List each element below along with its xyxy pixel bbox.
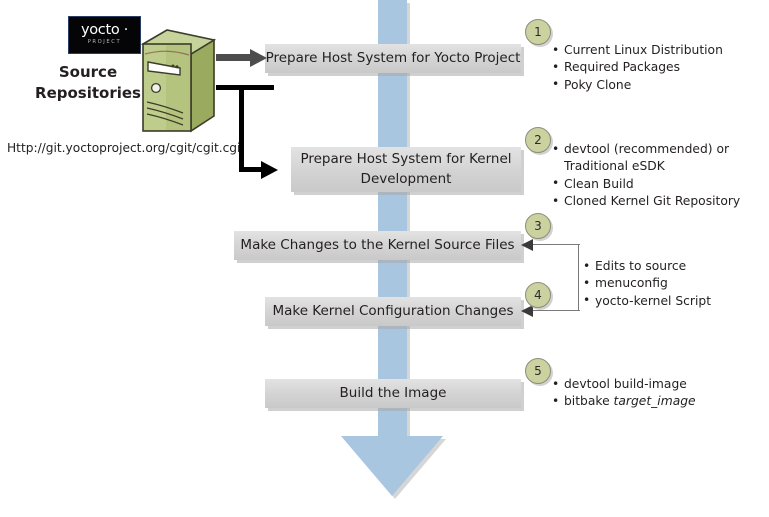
step-circle-3: 3 [525, 213, 551, 239]
step-circle-2-number: 2 [534, 133, 542, 147]
step-circle-1-number: 1 [534, 25, 542, 39]
bullet-item: Current Linux Distribution [552, 42, 723, 59]
feedback-loop-vertical-segment [578, 244, 579, 311]
connector-server-to-step1-arrowhead [250, 49, 267, 67]
bullet-item: bitbake target_image [552, 393, 696, 410]
yocto-logo-subtext: PROJECT [69, 39, 140, 45]
step-circle-2: 2 [525, 127, 551, 153]
bullet-item: Cloned Kernel Git Repository [552, 193, 740, 210]
bullet-item: Poky Clone [552, 77, 723, 94]
connector-server-to-step2-vertical [239, 85, 244, 172]
bullet-command-argument: target_image [614, 394, 696, 408]
step-circle-1: 1 [525, 19, 551, 45]
process-box-step1-label: Prepare Host System for Yocto Project [266, 49, 521, 69]
step-circle-5: 5 [525, 358, 551, 384]
step-circle-4-number: 4 [534, 288, 542, 302]
feedback-loop-arrowhead-to-step4 [521, 305, 533, 317]
process-box-step1[interactable]: Prepare Host System for Yocto Project [265, 44, 521, 73]
process-box-step2-label: Prepare Host System for Kernel Developme… [291, 150, 521, 189]
step-circle-4: 4 [525, 282, 551, 308]
bullets-feedback-loop: Edits to source menuconfig yocto-kernel … [583, 258, 711, 310]
process-box-step5-label: Build the Image [340, 384, 447, 404]
process-box-step4[interactable]: Make Kernel Configuration Changes [265, 297, 521, 326]
server-tower-icon [135, 28, 219, 148]
process-box-step4-label: Make Kernel Configuration Changes [272, 302, 513, 322]
bullet-item: devtool build-image [552, 376, 696, 393]
feedback-loop-top-segment [533, 244, 580, 245]
bullets-step5: devtool build-image bitbake target_image [552, 376, 696, 411]
source-repositories-label: Source Repositories [28, 62, 148, 105]
bullet-item: devtool (recommended) or Traditional eSD… [552, 141, 740, 176]
process-box-step3[interactable]: Make Changes to the Kernel Source Files [234, 231, 521, 260]
bullet-item: yocto-kernel Script [583, 293, 711, 310]
yocto-project-logo: yocto · PROJECT [68, 16, 141, 54]
bullets-step1: Current Linux Distribution Required Pack… [552, 42, 723, 94]
kernel-development-workflow-diagram: yocto · PROJECT Source Repositories Http… [0, 0, 769, 517]
connector-server-to-step2-horizontal [216, 85, 274, 90]
process-box-step5[interactable]: Build the Image [265, 379, 521, 408]
yocto-logo-wordmark: yocto · [69, 22, 140, 38]
bullet-item: Clean Build [552, 176, 740, 193]
step-circle-3-number: 3 [534, 219, 542, 233]
feedback-loop-arrowhead-to-step3 [521, 239, 533, 251]
process-box-step2[interactable]: Prepare Host System for Kernel Developme… [291, 147, 521, 192]
bullet-command: bitbake [564, 394, 614, 408]
connector-server-to-step1 [216, 54, 252, 61]
bullet-item: Required Packages [552, 59, 723, 76]
bullet-item: Edits to source [583, 258, 711, 275]
feedback-loop-bottom-segment [533, 310, 580, 311]
bullets-step2: devtool (recommended) or Traditional eSD… [552, 141, 740, 211]
process-box-step3-label: Make Changes to the Kernel Source Files [240, 236, 514, 256]
step-circle-5-number: 5 [534, 364, 542, 378]
main-flow-arrow-head [341, 436, 443, 496]
connector-server-to-step2-arrowhead [261, 161, 278, 179]
bullet-item: menuconfig [583, 275, 711, 292]
